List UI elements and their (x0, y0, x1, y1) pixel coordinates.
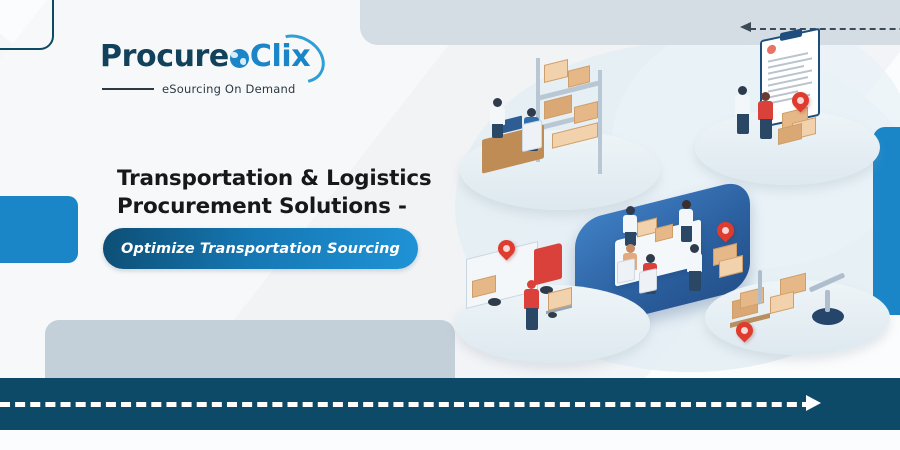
truck-cab (534, 243, 562, 286)
person-head (626, 244, 635, 253)
person-body (524, 289, 539, 309)
shelf-post-right (598, 70, 602, 174)
shelf-box-3 (544, 95, 572, 120)
globe-icon (230, 49, 249, 68)
decorative-outline-rectangle (0, 0, 54, 50)
person-head (626, 206, 635, 215)
cta-button-label: Optimize Transportation Sourcing (121, 241, 400, 257)
cta-button[interactable]: Optimize Transportation Sourcing (103, 228, 418, 269)
logo-wordmark: ProcureClix (100, 42, 400, 72)
arrow-right-icon (806, 395, 821, 411)
person-head (690, 244, 699, 253)
person-body (758, 101, 773, 120)
person-head-cap (527, 280, 536, 289)
person-legs (760, 119, 772, 139)
person-legs (526, 308, 538, 330)
office-chair (522, 120, 542, 152)
person-body (735, 95, 750, 115)
robot-arm-column (825, 290, 830, 312)
person-legs (492, 124, 503, 138)
brand-logo[interactable]: ProcureClix eSourcing On Demand (100, 42, 400, 96)
person-body (679, 209, 693, 227)
lift-post (758, 270, 762, 304)
person-body (490, 107, 505, 125)
bottom-road-band (0, 378, 900, 430)
logo-tagline-row: eSourcing On Demand (100, 82, 400, 96)
logistics-illustration (440, 40, 900, 385)
person-legs (689, 271, 701, 291)
arrow-left-icon (740, 22, 751, 32)
location-pin-icon (713, 218, 737, 242)
person-head (527, 108, 536, 117)
truck-wheel-rear (488, 298, 501, 306)
meeting-chair-2 (639, 268, 657, 294)
dashed-line (750, 28, 900, 30)
headline-line-2: Procurement Solutions - (117, 193, 447, 221)
person-head (761, 92, 770, 101)
tagline-divider (102, 88, 154, 90)
decorative-gray-panel (45, 320, 455, 380)
meeting-chair-1 (617, 258, 635, 284)
page-title: Transportation & Logistics Procurement S… (117, 165, 447, 222)
person-legs (737, 114, 749, 134)
person-head (493, 98, 502, 107)
person-body (687, 253, 702, 272)
logo-tagline: eSourcing On Demand (162, 82, 296, 96)
person-body (623, 215, 637, 233)
decorative-blue-rectangle-left (0, 196, 78, 263)
road-dashed-line (0, 402, 812, 407)
shelf-box-1 (544, 59, 568, 83)
person-head (646, 254, 655, 263)
person-head (738, 86, 747, 95)
shelf-box-4 (574, 101, 598, 124)
cart-wheel (548, 312, 557, 318)
bottom-strip (0, 430, 900, 450)
person-legs (681, 226, 692, 242)
marketing-banner: www.procureclix.com ProcureClix eSourcin… (0, 0, 900, 450)
headline-line-1: Transportation & Logistics (117, 166, 432, 191)
person-head (682, 200, 691, 209)
stamp-icon (767, 44, 776, 55)
logo-text-procure: Procure (100, 39, 229, 74)
